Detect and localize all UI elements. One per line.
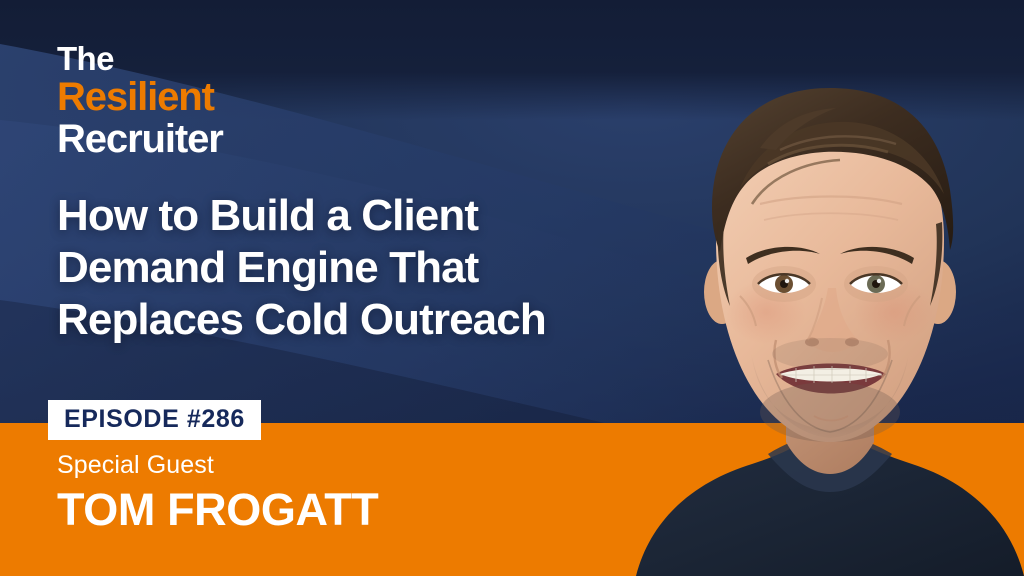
brand-line-recruiter: Recruiter <box>57 119 223 159</box>
guest-label: Special Guest <box>57 452 378 480</box>
podcast-episode-cover: The Resilient Recruiter How to Build a C… <box>0 0 1024 576</box>
episode-title-line-2: Demand Engine That <box>57 242 677 294</box>
episode-title-line-1: How to Build a Client <box>57 190 677 242</box>
brand-line-the: The <box>57 42 223 75</box>
brand-logo: The Resilient Recruiter <box>57 42 223 159</box>
guest-name: TOM FROGATT <box>57 484 378 536</box>
episode-title: How to Build a Client Demand Engine That… <box>57 190 677 346</box>
episode-number-badge: EPISODE #286 <box>48 400 261 440</box>
brand-line-resilient: Resilient <box>57 77 223 117</box>
guest-info: Special Guest TOM FROGATT <box>57 452 378 535</box>
episode-title-line-3: Replaces Cold Outreach <box>57 294 677 346</box>
